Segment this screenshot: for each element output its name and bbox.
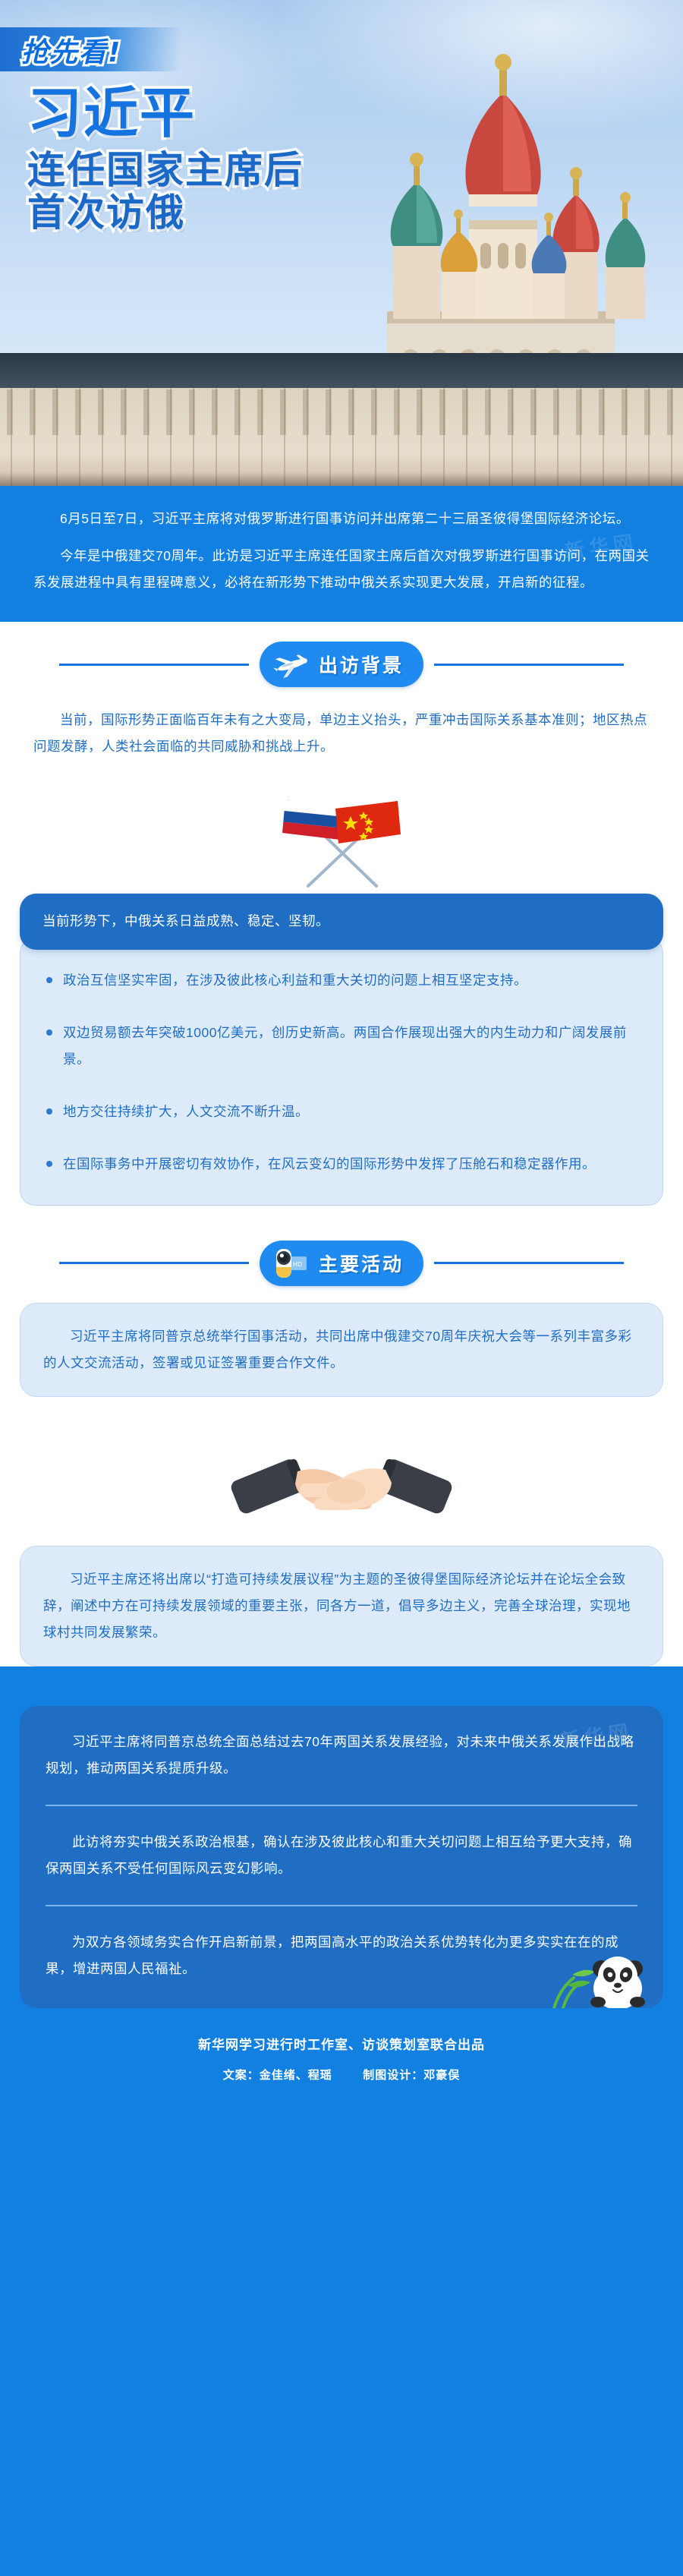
- flags-illustration: [0, 780, 683, 894]
- outlook-section: 新华网 习近平主席将同普京总统全面总结过去70年两国关系发展经验，对未来中俄关系…: [0, 1686, 683, 2008]
- teaser-tag: 抢先看!: [0, 27, 228, 71]
- page-title: 习近平 连任国家主席后 首次访俄: [27, 85, 498, 233]
- section-header-background: 出访背景: [0, 622, 683, 704]
- section-title-label-activities: 主要活动: [319, 1250, 404, 1277]
- background-cards: 当前形势下，中俄关系日益成熟、稳定、坚韧。 政治互信坚实牢固，在涉及彼此核心利益…: [0, 894, 683, 1206]
- gum-shadow: [0, 472, 683, 486]
- outlook-paragraph-3: 为双方各领域务实合作开启新前景，把两国高水平的政治关系优势转化为更多实实在在的成…: [46, 1929, 637, 1982]
- list-item: 双边贸易额去年突破1000亿美元，创历史新高。两国合作展现出强大的内生动力和广阔…: [43, 1020, 640, 1073]
- divider-right: [434, 664, 624, 666]
- airplane-icon: [272, 648, 311, 680]
- activities-card-2: 习近平主席还将出席以“打造可持续发展议程”为主题的圣彼得堡国际经济论坛并在论坛全…: [20, 1546, 663, 1666]
- handshake-illustration: [0, 1417, 683, 1546]
- activities-card-1: 习近平主席将同普京总统举行国事活动，共同出席中俄建交70周年庆祝大会等一系列丰富…: [20, 1303, 663, 1397]
- hero-banner: 抢先看! 习近平 连任国家主席后 首次访俄: [0, 0, 683, 486]
- section-title-pill-activities: HD 主要活动: [260, 1241, 423, 1286]
- background-highlight-text: 当前形势下，中俄关系日益成熟、稳定、坚韧。: [42, 913, 329, 929]
- footer-writers: 文案：金佳绪、程瑶: [223, 2068, 332, 2082]
- list-item: 政治互信坚实牢固，在涉及彼此核心利益和重大关切的问题上相互坚定支持。: [43, 967, 640, 994]
- intro-paragraph-1: 6月5日至7日，习近平主席将对俄罗斯进行国事访问并出席第二十三届圣彼得堡国际经济…: [33, 506, 650, 532]
- outlook-paragraph-2: 此访将夯实中俄关系政治根基，确认在涉及彼此核心和重大关切问题上相互给予更大支持，…: [46, 1829, 637, 1882]
- headline-line-1: 习近平: [27, 85, 498, 143]
- section-background-body: 当前，国际形势正面临百年未有之大变局，单边主义抬头，严重冲击国际关系基本准则；地…: [0, 704, 683, 1206]
- outlook-card: 新华网 习近平主席将同普京总统全面总结过去70年两国关系发展经验，对未来中俄关系…: [20, 1706, 663, 2008]
- background-bullet-list: 政治互信坚实牢固，在涉及彼此核心利益和重大关切的问题上相互坚定支持。 双边贸易额…: [43, 967, 640, 1178]
- background-paragraph: 当前，国际形势正面临百年未有之大变局，单边主义抬头，严重冲击国际关系基本准则；地…: [0, 704, 683, 780]
- footer-credits: 新华网学习进行时工作室、访谈策划室联合出品 文案：金佳绪、程瑶 制图设计：邓豪俣: [0, 2008, 683, 2105]
- section-title-label: 出访背景: [319, 651, 404, 678]
- gum-building-illustration: [0, 353, 683, 486]
- svg-text:HD: HD: [293, 1261, 302, 1268]
- camera-icon: HD: [272, 1247, 311, 1279]
- footer-designer: 制图设计：邓豪俣: [363, 2068, 460, 2082]
- infographic-page: 抢先看! 习近平 连任国家主席后 首次访俄 新华网 6月5日至7日，习近平主席将…: [0, 0, 683, 2576]
- headline-line-3: 首次访俄: [27, 193, 498, 233]
- divider-right: [434, 1262, 624, 1264]
- divider-left: [59, 1262, 249, 1264]
- divider-left: [59, 664, 249, 666]
- list-item: 地方交往持续扩大，人文交流不断升温。: [43, 1099, 640, 1125]
- intro-section: 新华网 6月5日至7日，习近平主席将对俄罗斯进行国事访问并出席第二十三届圣彼得堡…: [0, 486, 683, 622]
- gum-arcade: [0, 388, 683, 486]
- intro-paragraph-2: 今年是中俄建交70周年。此访是习近平主席连任国家主席后首次对俄罗斯进行国事访问，…: [33, 543, 650, 596]
- background-bullets-card: 政治互信坚实牢固，在涉及彼此核心利益和重大关切的问题上相互坚定支持。 双边贸易额…: [20, 938, 663, 1206]
- section-header-activities: HD 主要活动: [0, 1206, 683, 1303]
- teaser-tag-label: 抢先看!: [21, 30, 121, 70]
- footer-producer: 新华网学习进行时工作室、访谈策划室联合出品: [0, 2034, 683, 2053]
- outlook-paragraph-1: 习近平主席将同普京总统全面总结过去70年两国关系发展经验，对未来中俄关系发展作出…: [46, 1729, 637, 1782]
- footer-credit-line: 文案：金佳绪、程瑶 制图设计：邓豪俣: [0, 2067, 683, 2083]
- outlook-divider-2: [46, 1905, 637, 1906]
- background-highlight-card: 当前形势下，中俄关系日益成熟、稳定、坚韧。: [20, 894, 663, 950]
- section-title-pill-background: 出访背景: [260, 642, 423, 687]
- gum-roofline: [0, 353, 683, 388]
- list-item: 在国际事务中开展密切有效协作，在风云变幻的国际形势中发挥了压舱石和稳定器作用。: [43, 1151, 640, 1178]
- section-activities-body: 习近平主席将同普京总统举行国事活动，共同出席中俄建交70周年庆祝大会等一系列丰富…: [0, 1303, 683, 1666]
- outlook-divider-1: [46, 1805, 637, 1806]
- headline-line-2: 连任国家主席后: [27, 150, 498, 191]
